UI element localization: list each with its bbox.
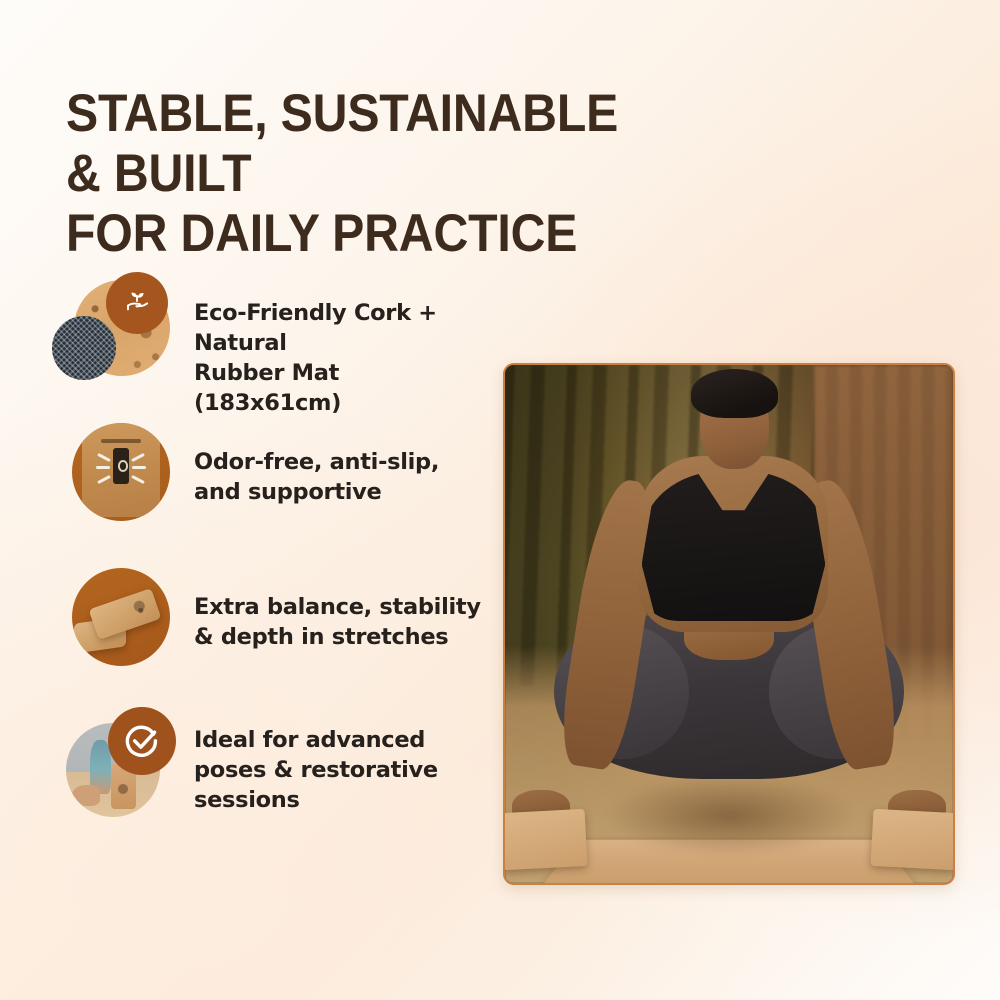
check-circle-icon	[108, 707, 176, 775]
figure-hair	[691, 369, 778, 418]
feature-item-eco-material: Eco-Friendly Cork + Natural Rubber Mat (…	[52, 272, 492, 417]
block-logo-stamp	[129, 597, 152, 620]
page-title: STABLE, SUSTAINABLE & BUILT FOR DAILY PR…	[66, 84, 648, 264]
hero-product-photo	[503, 363, 955, 885]
photo-cork-block-left	[503, 808, 587, 869]
feature-label: Extra balance, stability & depth in stre…	[194, 592, 481, 652]
photo-cork-block-right	[871, 808, 955, 869]
foot-shape	[72, 785, 100, 806]
feature-list: Eco-Friendly Cork + Natural Rubber Mat (…	[52, 272, 492, 852]
cork-disc-with-rubber-swatch-icon	[52, 272, 180, 388]
feature-label: Odor-free, anti-slip, and supportive	[194, 447, 439, 507]
feature-item-odor-free: Odor-free, anti-slip, and supportive	[52, 417, 492, 562]
blocks-photo-circle	[72, 568, 170, 666]
feature-label: Eco-Friendly Cork + Natural Rubber Mat (…	[194, 298, 492, 418]
feature-item-balance-stability: Extra balance, stability & depth in stre…	[52, 562, 492, 707]
mat-center-graphic	[113, 448, 129, 483]
mat-photo-circle	[72, 423, 170, 521]
plant-in-hand-icon	[106, 272, 168, 334]
rubber-grip-swatch-icon	[52, 316, 116, 380]
feature-item-advanced-poses: Ideal for advanced poses & restorative s…	[52, 707, 492, 852]
product-feature-poster: STABLE, SUSTAINABLE & BUILT FOR DAILY PR…	[0, 0, 1000, 1000]
ray-left	[96, 466, 110, 469]
feature-label: Ideal for advanced poses & restorative s…	[194, 725, 438, 815]
mat-brand-text	[101, 439, 140, 443]
cork-yoga-blocks-thumbnail-icon	[52, 562, 180, 678]
block-under-leg-thumbnail-icon	[52, 707, 180, 823]
ray-right	[132, 466, 146, 469]
photo-yoga-figure	[505, 365, 953, 883]
cork-mat-closeup-thumbnail-icon	[52, 417, 180, 533]
